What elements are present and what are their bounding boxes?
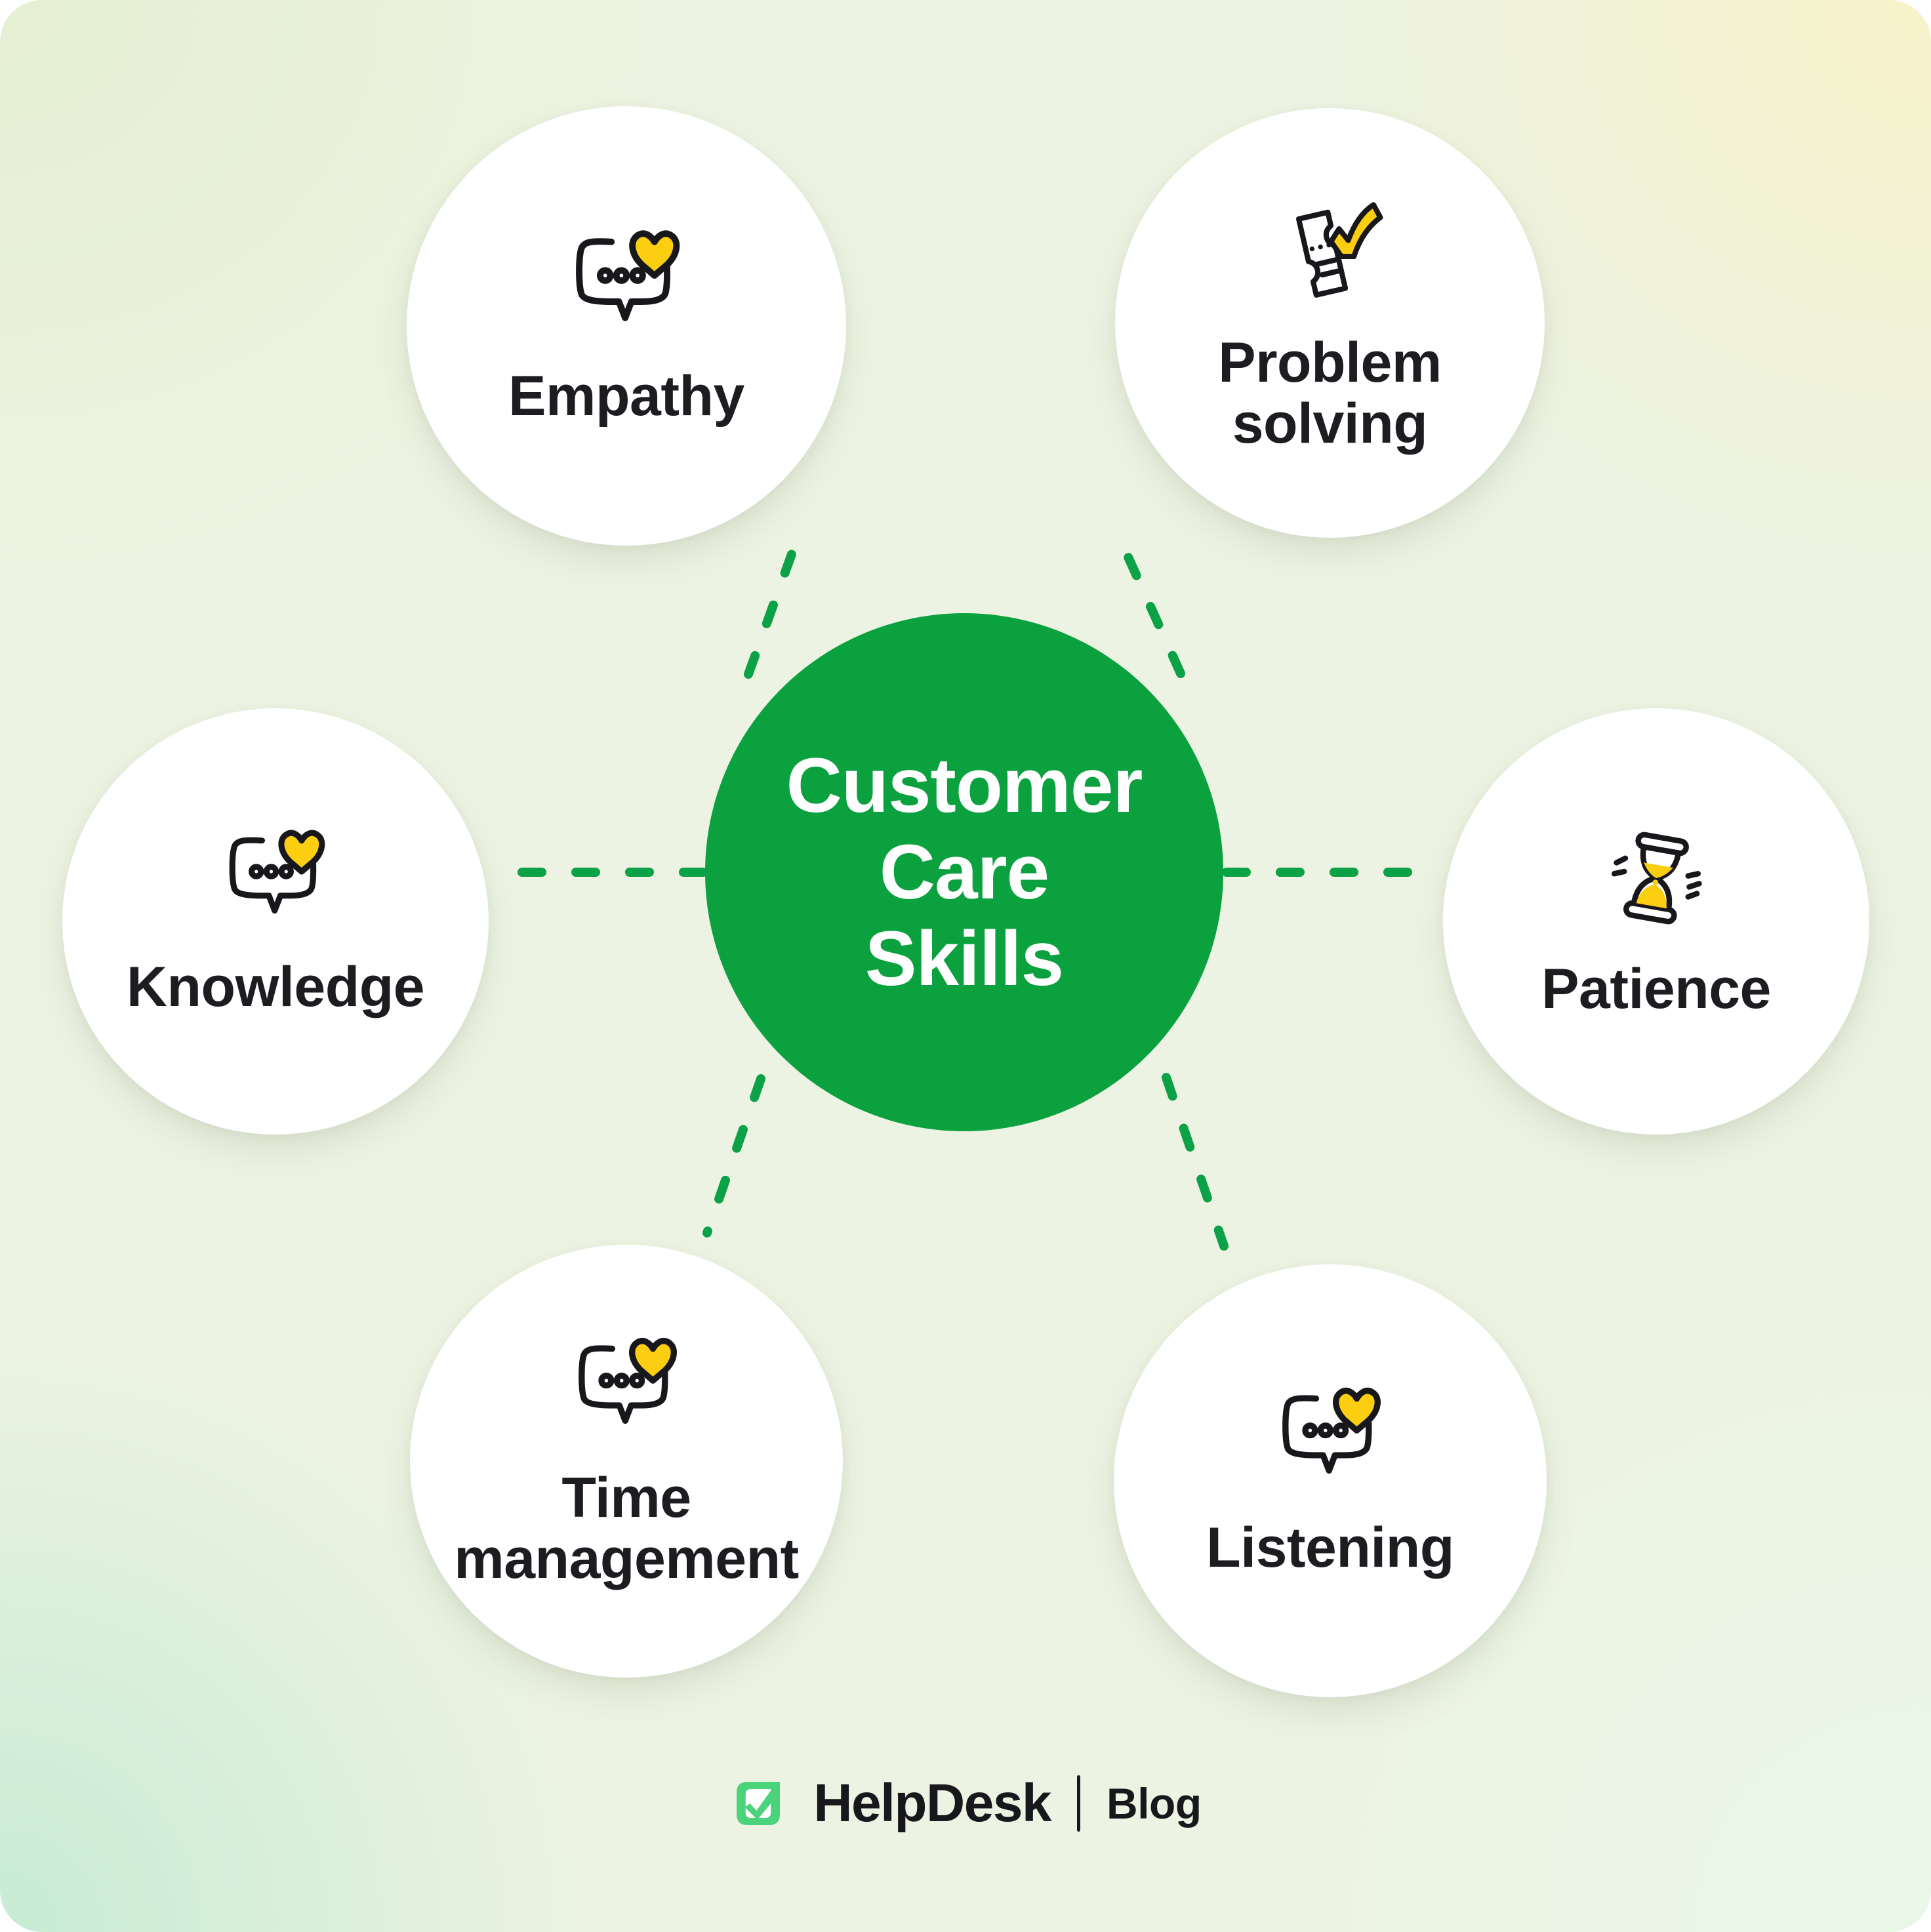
node-problem-solving[interactable]: Problem solving [1115, 108, 1545, 538]
node-patience[interactable]: Patience [1443, 708, 1869, 1135]
center-hub-title-line3: Skills [786, 916, 1143, 1002]
node-patience-label: Patience [1541, 959, 1771, 1019]
node-empathy[interactable]: Empathy [407, 106, 846, 546]
speech-bubble-heart-icon [218, 826, 333, 935]
node-knowledge-label: Knowledge [127, 957, 424, 1017]
center-hub-title-line2: Care [786, 829, 1143, 916]
node-empathy-label-line1: Empathy [508, 366, 744, 426]
node-empathy-label: Empathy [508, 366, 744, 426]
brand-section-label: Blog [1107, 1779, 1202, 1828]
node-time-management[interactable]: Time management [410, 1245, 843, 1678]
brand-footer: HelpDesk Blog [0, 1764, 1931, 1843]
node-time-management-label-line1: Time [454, 1468, 799, 1528]
helpdesk-check-logo-icon [729, 1775, 787, 1832]
node-problem-solving-label-line1: Problem [1218, 332, 1442, 393]
node-listening-label: Listening [1206, 1518, 1454, 1578]
center-hub[interactable]: Customer Care Skills [705, 613, 1223, 1131]
node-listening-label-line1: Listening [1206, 1518, 1454, 1578]
node-knowledge-label-line1: Knowledge [127, 957, 424, 1017]
speech-bubble-heart-icon [1271, 1383, 1389, 1495]
node-time-management-label-line2: management [454, 1529, 799, 1589]
node-knowledge[interactable]: Knowledge [62, 708, 489, 1135]
infographic-canvas: Empathy Problem solving [0, 0, 1931, 1932]
connector-to-problem-solving [1115, 528, 1181, 674]
connector-to-time-management [707, 1079, 761, 1233]
connector-to-empathy [748, 538, 798, 674]
ticket-check-icon [1272, 192, 1387, 310]
node-problem-solving-label: Problem solving [1218, 332, 1442, 453]
node-time-management-label: Time management [454, 1468, 799, 1588]
node-patience-label-line1: Patience [1541, 959, 1771, 1019]
speech-bubble-heart-icon [567, 1333, 685, 1445]
node-problem-solving-label-line2: solving [1218, 393, 1442, 454]
center-hub-title: Customer Care Skills [786, 742, 1143, 1002]
node-listening[interactable]: Listening [1114, 1264, 1547, 1697]
brand-wordmark: HelpDesk [813, 1773, 1051, 1834]
speech-bubble-heart-icon [564, 226, 689, 344]
center-hub-title-line1: Customer [786, 742, 1143, 829]
hourglass-icon [1601, 823, 1711, 936]
brand-divider [1077, 1775, 1080, 1832]
connector-to-listening [1166, 1077, 1224, 1246]
